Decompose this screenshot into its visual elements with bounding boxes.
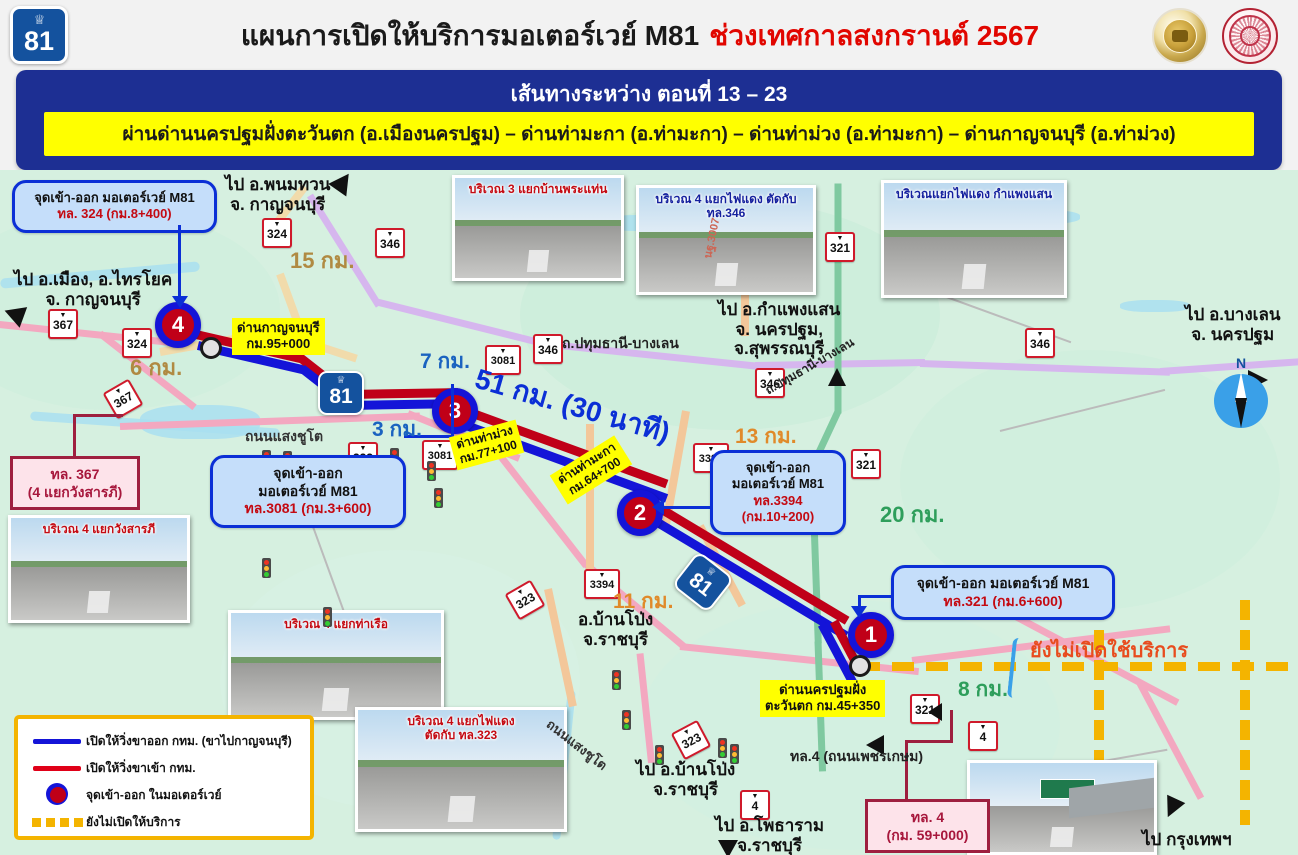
road-name-saengchuto: ถนนแสงชูโต bbox=[245, 428, 323, 444]
pink-box-line: ทล. 367 bbox=[23, 465, 127, 483]
callout-line: มอเตอร์เวย์ M81 bbox=[225, 483, 391, 501]
compass-north-label: N bbox=[1236, 355, 1246, 371]
callout-line: ทล.3394 bbox=[725, 493, 831, 509]
leader-arrow-icon bbox=[851, 606, 867, 618]
interchange-node-1[interactable]: 1 bbox=[848, 612, 894, 658]
direction-label-to-banpong: ไป อ.บ้านโป่งจ.ราชบุรี bbox=[636, 760, 735, 799]
motorway-81-map-shield: ♕ 81 bbox=[318, 371, 364, 415]
route-shield-321: 321 bbox=[851, 449, 881, 479]
leader-line bbox=[950, 710, 953, 742]
legend-label: ยังไม่เปิดให้บริการ bbox=[86, 813, 181, 832]
direction-label-phanomthuan: ไป อ.พนมทวนจ. กาญจนบุรี bbox=[225, 175, 330, 214]
callout-interchange-324[interactable]: จุดเข้า-ออก มอเตอร์เวย์ M81 ทล. 324 (กม.… bbox=[12, 180, 217, 233]
traffic-light-icon bbox=[612, 670, 621, 690]
page-title-red: ช่วงเทศกาลสงกรานต์ 2567 bbox=[709, 14, 1039, 58]
distance-label-20km: 20 กม. bbox=[880, 502, 945, 527]
photo-inset[interactable]: บริเวณ 4 แยกวังสารภี bbox=[8, 515, 190, 623]
leader-line bbox=[73, 414, 76, 456]
photo-caption: บริเวณแยกไฟแดง กำแพงแสน bbox=[884, 187, 1064, 201]
interchange-node-3[interactable]: 3 bbox=[432, 388, 478, 434]
direction-label-banglen: ไป อ.บางเลนจ. นครปฐม bbox=[1185, 305, 1280, 344]
callout-line: มอเตอร์เวย์ M81 bbox=[725, 476, 831, 492]
legend-item: ยังไม่เปิดให้บริการ bbox=[28, 809, 300, 836]
callout-line: จุดเข้า-ออก bbox=[725, 460, 831, 476]
toll-tag-kanchanaburi: ด่านกาญจนบุรีกม.95+000 bbox=[232, 318, 325, 355]
traffic-light-icon bbox=[427, 461, 436, 481]
ministry-of-transport-emblem-icon bbox=[1152, 8, 1208, 64]
distance-label-15km: 15 กม. bbox=[290, 248, 355, 273]
not-open-dashed-route bbox=[858, 662, 1298, 671]
photo-inset[interactable]: บริเวณแยกไฟแดง กำแพงแสน bbox=[881, 180, 1067, 298]
pink-box-line: ทล. 4 bbox=[878, 808, 977, 826]
leader-arrow-icon bbox=[172, 296, 188, 308]
distance-label-7km: 7 กม. bbox=[420, 350, 470, 374]
leader-line bbox=[663, 506, 711, 509]
motorway-81-shield-icon: ♕ 81 bbox=[10, 6, 68, 64]
road-name-pathumthani-banglen: ถ.ปทุมธานี-บางเลน bbox=[562, 335, 679, 351]
toll-plaza-dot bbox=[200, 337, 222, 359]
direction-arrow-icon bbox=[718, 840, 738, 855]
route-shield-346: 346 bbox=[1025, 328, 1055, 358]
photo-caption: บริเวณ 4 แยกวังสารภี bbox=[11, 522, 187, 536]
direction-arrow-icon bbox=[328, 170, 357, 197]
not-open-dashed-route bbox=[1240, 600, 1250, 825]
road-name-phetkasem: ทล.4 (ถนนเพชรเกษม) bbox=[790, 748, 923, 764]
legend-item: เปิดให้วิ่งขาออก กทม. (ขาไปกาญจนบุรี) bbox=[28, 728, 300, 755]
callout-line: จุดเข้า-ออก มอเตอร์เวย์ M81 bbox=[906, 575, 1100, 593]
photo-caption-line2: ตัดกับ ทล.323 bbox=[361, 728, 561, 742]
callout-interchange-321[interactable]: จุดเข้า-ออก มอเตอร์เวย์ M81 ทล.321 (กม.6… bbox=[891, 565, 1115, 620]
leader-line bbox=[178, 253, 181, 298]
red-line-icon bbox=[28, 766, 86, 771]
callout-line: จุดเข้า-ออก มอเตอร์เวย์ M81 bbox=[27, 190, 202, 206]
dashed-yellow-icon bbox=[28, 818, 86, 827]
callout-line: (กม.10+200) bbox=[725, 509, 831, 525]
lake bbox=[1120, 300, 1190, 312]
pink-box-line: (กม. 59+000) bbox=[878, 826, 977, 844]
direction-label-mueang-saiyok: ไป อ.เมือง, อ.ไทรโยคจ. กาญจนบุรี bbox=[14, 270, 172, 309]
leader-arrow-icon bbox=[652, 499, 664, 515]
map-canvas[interactable]: บริเวณ 3 แยกบ้านพระแท่น บริเวณ 4 แยกไฟแด… bbox=[0, 170, 1298, 855]
pink-box-line: (4 แยกวังสารภี) bbox=[23, 483, 127, 501]
department-of-highways-emblem-icon bbox=[1222, 8, 1278, 64]
route-shield-367: 367 bbox=[48, 309, 78, 339]
toll-tag-nakhonpathom-west: ด่านนครปฐมฝั่งตะวันตก กม.45+350 bbox=[760, 680, 885, 717]
traffic-light-icon bbox=[262, 558, 271, 578]
callout-interchange-3394[interactable]: จุดเข้า-ออก มอเตอร์เวย์ M81 ทล.3394 (กม.… bbox=[710, 450, 846, 535]
photo-caption: บริเวณ 4 แยกไฟแดง ตัดกับ ทล.323 bbox=[358, 714, 564, 743]
not-open-label: ยังไม่เปิดใช้บริการ bbox=[1030, 640, 1188, 663]
route-shield-346: 346 bbox=[375, 228, 405, 258]
callout-interchange-3081[interactable]: จุดเข้า-ออก มอเตอร์เวย์ M81 ทล.3081 (กม.… bbox=[210, 455, 406, 528]
route-shield-321: 321 bbox=[825, 232, 855, 262]
photo-caption: บริเวณ 4 แยกท่าเรือ bbox=[231, 617, 441, 631]
infographic-root: ♕ 81 แผนการเปิดให้บริการมอเตอร์เวย์ M81 … bbox=[0, 0, 1298, 855]
direction-label-bangkok: ไป กรุงเทพฯ bbox=[1142, 830, 1232, 850]
direction-arrow-icon bbox=[828, 368, 846, 386]
photo-caption: บริเวณ 4 แยกไฟแดง ตัดกับ ทล.346 bbox=[639, 192, 813, 221]
photo-inset[interactable]: บริเวณ 4 แยกไฟแดง ตัดกับ ทล.323 bbox=[355, 707, 567, 832]
map-legend: เปิดให้วิ่งขาออก กทม. (ขาไปกาญจนบุรี) เป… bbox=[14, 715, 314, 840]
pink-box-tl4[interactable]: ทล. 4 (กม. 59+000) bbox=[865, 799, 990, 853]
legend-item: เปิดให้วิ่งขาเข้า กทม. bbox=[28, 755, 300, 782]
page-title: แผนการเปิดให้บริการมอเตอร์เวย์ M81 ช่วงเ… bbox=[150, 8, 1130, 64]
crown-icon: ♕ bbox=[13, 12, 65, 27]
leader-line bbox=[858, 595, 894, 598]
leader-line bbox=[178, 225, 181, 253]
distance-label-6km: 6 กม. bbox=[130, 355, 182, 380]
banner-subtitle: เส้นทางระหว่าง ตอนที่ 13 – 23 bbox=[16, 78, 1282, 111]
route-shield-346: 346 bbox=[533, 334, 563, 364]
leader-line bbox=[73, 414, 123, 417]
direction-arrow-icon bbox=[928, 703, 942, 721]
route-shield-324: 324 bbox=[262, 218, 292, 248]
traffic-light-icon bbox=[323, 607, 332, 627]
route-shield-4: 4 bbox=[968, 721, 998, 751]
traffic-light-icon bbox=[718, 738, 727, 758]
traffic-light-icon bbox=[622, 710, 631, 730]
page-header: ♕ 81 แผนการเปิดให้บริการมอเตอร์เวย์ M81 … bbox=[0, 0, 1298, 72]
legend-label: เปิดให้วิ่งขาเข้า กทม. bbox=[86, 759, 196, 778]
page-title-main: แผนการเปิดให้บริการมอเตอร์เวย์ M81 bbox=[241, 14, 699, 58]
callout-line: จุดเข้า-ออก bbox=[225, 465, 391, 483]
place-label-banpong: อ.บ้านโป่งจ.ราชบุรี bbox=[578, 610, 653, 649]
blue-line-icon bbox=[28, 739, 86, 744]
route-banner: เส้นทางระหว่าง ตอนที่ 13 – 23 ผ่านด่านนค… bbox=[16, 70, 1282, 170]
distance-label-13km: 13 กม. bbox=[735, 425, 797, 449]
interchange-node-icon bbox=[28, 783, 86, 809]
traffic-light-icon bbox=[434, 488, 443, 508]
callout-line: ทล. 324 (กม.8+400) bbox=[27, 206, 202, 222]
leader-line bbox=[905, 740, 953, 743]
leader-line bbox=[451, 384, 454, 436]
callout-line: ทล.321 (กม.6+600) bbox=[906, 593, 1100, 611]
photo-caption: บริเวณ 3 แยกบ้านพระแท่น bbox=[455, 182, 621, 196]
direction-arrow-icon bbox=[1159, 795, 1186, 822]
compass-icon: N bbox=[1208, 368, 1274, 434]
photo-inset[interactable]: บริเวณ 4 แยกไฟแดง ตัดกับ ทล.346 bbox=[636, 185, 816, 295]
pink-box-tl367[interactable]: ทล. 367 (4 แยกวังสารภี) bbox=[10, 456, 140, 510]
legend-item: จุดเข้า-ออก ในมอเตอร์เวย์ bbox=[28, 782, 300, 809]
callout-line: ทล.3081 (กม.3+600) bbox=[225, 500, 391, 518]
shield-number: 81 bbox=[13, 27, 65, 55]
banner-route-text: ผ่านด่านนครปฐมฝั่งตะวันตก (อ.เมืองนครปฐม… bbox=[44, 112, 1254, 156]
photo-inset[interactable]: บริเวณ 3 แยกบ้านพระแท่น bbox=[452, 175, 624, 281]
toll-plaza-dot bbox=[849, 655, 871, 677]
distance-label-8km: 8 กม. bbox=[958, 678, 1008, 702]
legend-label: จุดเข้า-ออก ในมอเตอร์เวย์ bbox=[86, 786, 221, 805]
legend-label: เปิดให้วิ่งขาออก กทม. (ขาไปกาญจนบุรี) bbox=[86, 732, 292, 751]
photo-inset[interactable] bbox=[967, 760, 1157, 855]
photo-caption-line1: บริเวณ 4 แยกไฟแดง bbox=[361, 714, 561, 728]
distance-label-3km: 3 กม. bbox=[372, 418, 422, 442]
photo-inset[interactable]: บริเวณ 4 แยกท่าเรือ bbox=[228, 610, 444, 720]
route-shield-324: 324 bbox=[122, 328, 152, 358]
